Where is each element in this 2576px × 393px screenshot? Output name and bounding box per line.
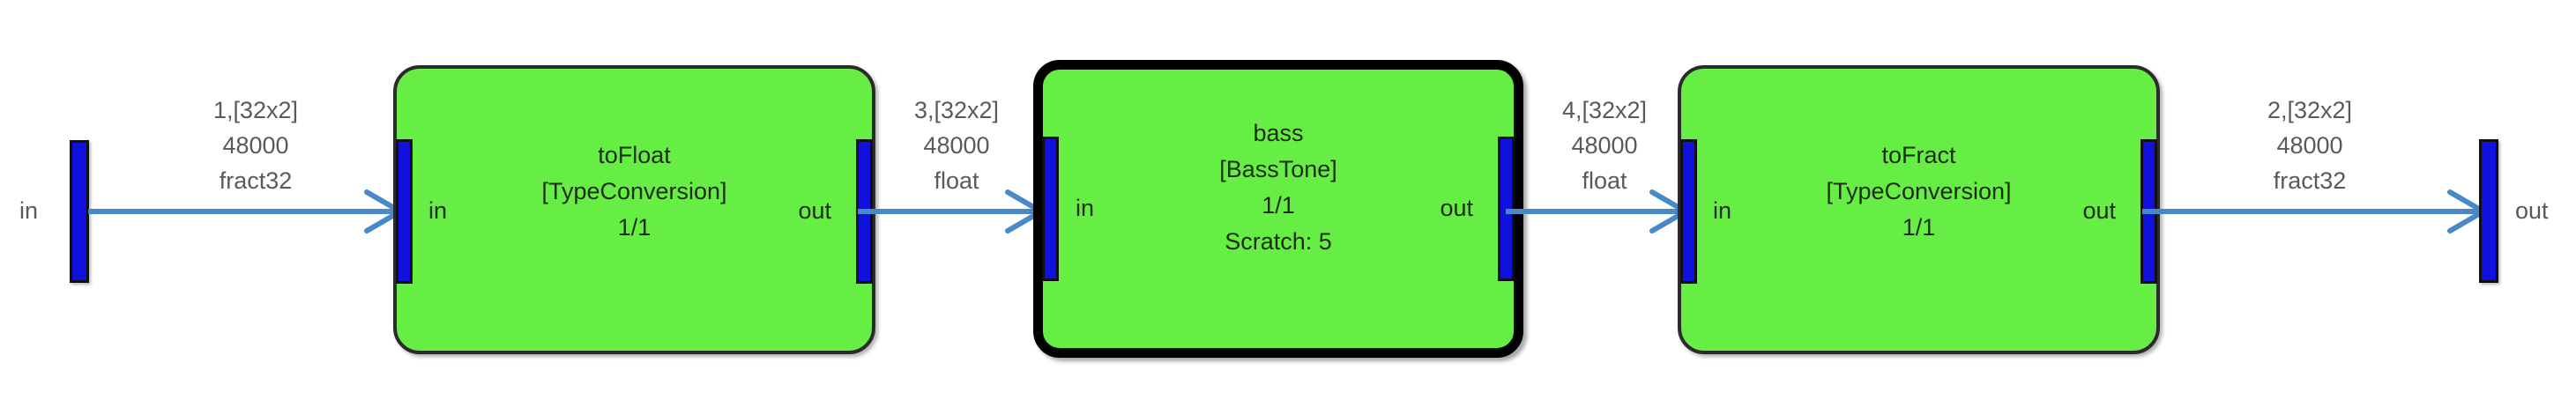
edge-3-datatype: float	[882, 163, 1031, 198]
block-tofloat[interactable]: in toFloat [TypeConversion] 1/1 out	[393, 65, 875, 354]
block-bass-out-port-label: out	[1440, 196, 1473, 220]
block-tofloat-in-port-label: in	[428, 199, 447, 223]
edge-4-datatype: float	[1530, 163, 1679, 198]
block-bass-kind: [BassTone]	[1043, 152, 1514, 188]
edge-1-wire[interactable]	[88, 209, 398, 214]
block-bass-in-port[interactable]	[1042, 137, 1059, 281]
block-tofloat-name: toFloat	[397, 137, 872, 174]
block-tofract-in-port-label: in	[1713, 199, 1731, 223]
block-tofract-text: toFract [TypeConversion] 1/1	[1681, 137, 2156, 246]
out-terminal-bar[interactable]	[2479, 139, 2498, 283]
in-terminal-bar[interactable]	[70, 140, 89, 283]
edge-2-label: 2,[32x2] 48000 fract32	[2178, 93, 2442, 198]
edge-2-rate: 48000	[2178, 128, 2442, 163]
edge-2-datatype: fract32	[2178, 163, 2442, 198]
edge-4-index: 4,[32x2]	[1530, 93, 1679, 128]
edge-1-label: 1,[32x2] 48000 fract32	[132, 93, 379, 198]
block-bass-text: bass [BassTone] 1/1 Scratch: 5	[1043, 115, 1514, 260]
edge-1-datatype: fract32	[132, 163, 379, 198]
block-tofract-out-port-label: out	[2082, 199, 2116, 223]
edge-1-rate: 48000	[132, 128, 379, 163]
block-tofract-in-port[interactable]	[1680, 139, 1697, 284]
edge-3-index: 3,[32x2]	[882, 93, 1031, 128]
edge-4-rate: 48000	[1530, 128, 1679, 163]
edge-4-label: 4,[32x2] 48000 float	[1530, 93, 1679, 198]
edge-2-index: 2,[32x2]	[2178, 93, 2442, 128]
block-tofloat-text: toFloat [TypeConversion] 1/1	[397, 137, 872, 246]
edge-4-wire[interactable]	[1506, 209, 1684, 214]
in-terminal-label: in	[19, 199, 38, 223]
block-tofract-name: toFract	[1681, 137, 2156, 174]
edge-3-wire[interactable]	[858, 209, 1039, 214]
edge-1-index: 1,[32x2]	[132, 93, 379, 128]
edge-3-label: 3,[32x2] 48000 float	[882, 93, 1031, 198]
block-tofract[interactable]: in toFract [TypeConversion] 1/1 out	[1678, 65, 2160, 354]
edge-3-rate: 48000	[882, 128, 1031, 163]
block-bass-in-port-label: in	[1076, 196, 1094, 220]
diagram-canvas: in 1,[32x2] 48000 fract32 in toFloat [Ty…	[0, 0, 2576, 393]
block-bass[interactable]: in bass [BassTone] 1/1 Scratch: 5 out	[1033, 60, 1523, 358]
block-bass-name: bass	[1043, 115, 1514, 152]
block-tofloat-in-port[interactable]	[396, 139, 413, 284]
edge-2-wire[interactable]	[2142, 209, 2482, 214]
out-terminal-label: out	[2515, 199, 2549, 223]
block-bass-extra: Scratch: 5	[1043, 224, 1514, 260]
block-tofloat-out-port-label: out	[798, 199, 831, 223]
